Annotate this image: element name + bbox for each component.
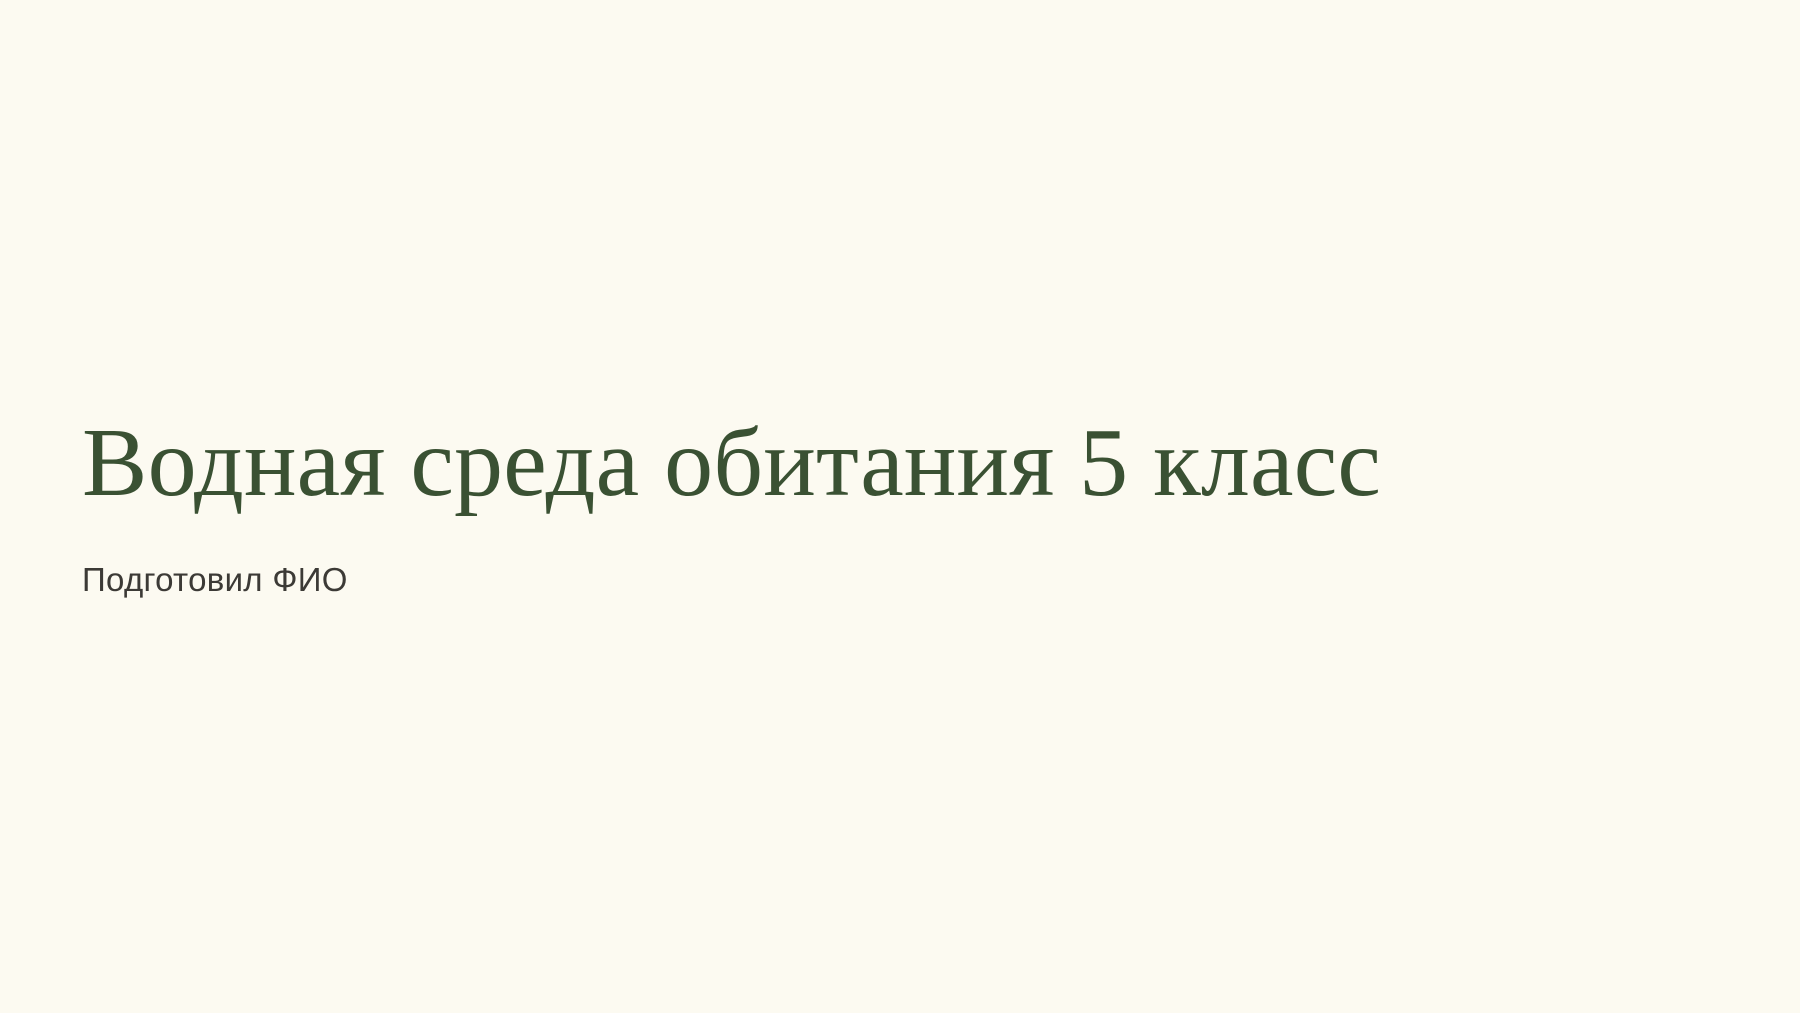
slide-title: Водная среда обитания 5 класс bbox=[82, 411, 1381, 517]
presentation-title-slide: Водная среда обитания 5 класс Подготовил… bbox=[0, 0, 1800, 1013]
slide-text-block: Водная среда обитания 5 класс Подготовил… bbox=[82, 0, 1722, 1013]
slide-subtitle: Подготовил ФИО bbox=[82, 559, 348, 602]
